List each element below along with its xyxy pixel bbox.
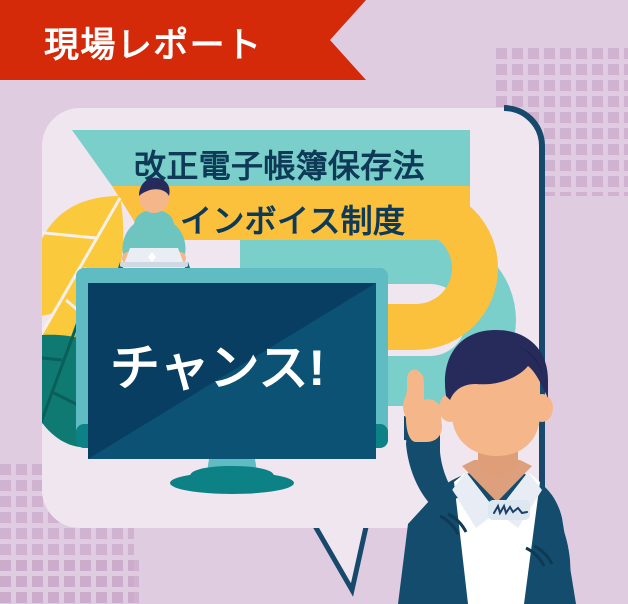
name-badge-icon [488, 500, 530, 520]
ribbon-banner [0, 0, 366, 80]
band-top [72, 130, 470, 186]
square-grid-pattern-icon-bottom-left-2 [0, 556, 144, 604]
poster-artwork [0, 0, 628, 604]
poster-canvas: 現場レポート 改正電子帳簿保存法 インボイス制度 チャンス! [0, 0, 628, 604]
